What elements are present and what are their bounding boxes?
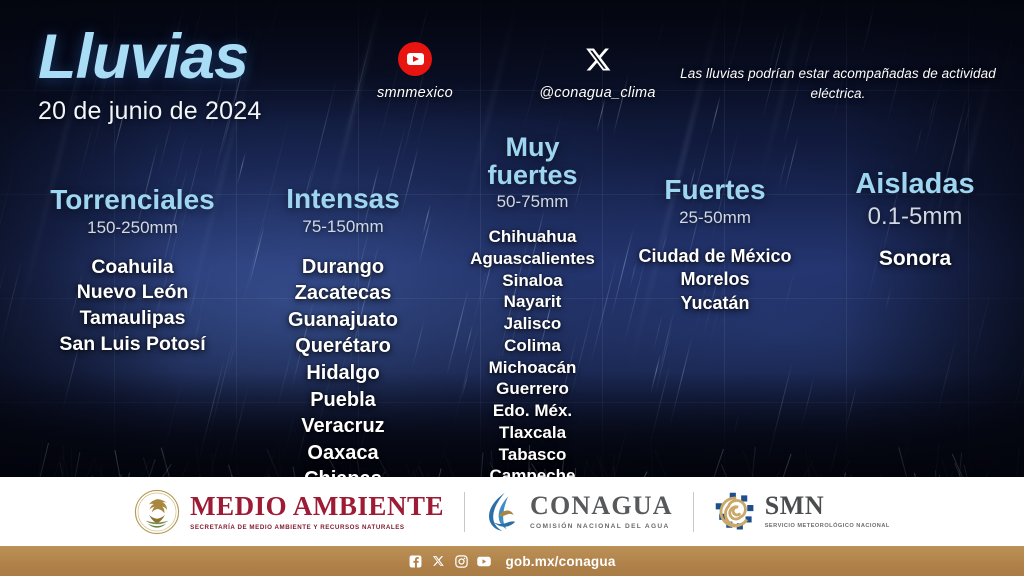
youtube-handle: smnmexico	[377, 85, 453, 101]
list-item: Edo. Méx.	[435, 400, 630, 422]
smn-text: SMN SERVICIO METEOROLÓGICO NACIONAL	[765, 493, 890, 530]
list-item: Tabasco	[435, 444, 630, 466]
logo-semarnat: MEDIO AMBIENTE SECRETARÍA DE MEDIO AMBIE…	[134, 489, 444, 535]
semarnat-subtitle: SECRETARÍA DE MEDIO AMBIENTE Y RECURSOS …	[190, 524, 444, 531]
logo-smn: SMN SERVICIO METEOROLÓGICO NACIONAL	[714, 491, 890, 533]
footer-logo-band: MEDIO AMBIENTE SECRETARÍA DE MEDIO AMBIE…	[0, 477, 1024, 546]
list-item: Colima	[435, 335, 630, 357]
list-item: Morelos	[600, 268, 830, 292]
logo-divider-2	[693, 492, 694, 532]
semarnat-text: MEDIO AMBIENTE SECRETARÍA DE MEDIO AMBIE…	[190, 493, 444, 531]
play-triangle	[413, 56, 419, 62]
lightning-note: Las lluvias podrían estar acompañadas de…	[678, 64, 998, 103]
list-item: Puebla	[243, 387, 443, 414]
list-item: Tamaulipas	[10, 306, 255, 332]
list-item: Guanajuato	[243, 307, 443, 334]
logo-conagua: CONAGUA COMISIÓN NACIONAL DEL AGUA	[485, 491, 673, 533]
category-range: 0.1-5mm	[815, 203, 1015, 231]
category-range: 75-150mm	[243, 217, 443, 237]
category-column-fuertes: Fuertes 25-50mm Ciudad de México Morelos…	[600, 176, 830, 316]
instagram-icon[interactable]	[454, 554, 468, 568]
category-name: Torrenciales	[10, 186, 255, 215]
list-item: Oaxaca	[243, 440, 443, 467]
logo-divider	[464, 492, 465, 532]
category-name: Intensas	[243, 185, 443, 214]
gob-url[interactable]: gob.mx/conagua	[505, 554, 615, 569]
state-list: Ciudad de México Morelos Yucatán	[600, 245, 830, 317]
footer-social-bar: gob.mx/conagua	[0, 546, 1024, 576]
list-item: Yucatán	[600, 292, 830, 316]
list-item: Sonora	[815, 245, 1015, 273]
mexico-coat-of-arms-icon	[134, 489, 180, 535]
category-name-line1: Muy	[435, 134, 630, 162]
list-item: Veracruz	[243, 413, 443, 440]
social-youtube[interactable]: smnmexico	[345, 42, 485, 101]
smn-subtitle: SERVICIO METEOROLÓGICO NACIONAL	[765, 522, 890, 530]
category-column-aisladas: Aisladas 0.1-5mm Sonora	[815, 170, 1015, 273]
facebook-icon[interactable]	[408, 554, 422, 568]
category-name: Aisladas	[815, 170, 1015, 200]
list-item: Zacatecas	[243, 280, 443, 307]
conagua-text: CONAGUA COMISIÓN NACIONAL DEL AGUA	[530, 493, 673, 530]
youtube-icon[interactable]	[398, 42, 432, 76]
list-item: Coahuila	[10, 255, 255, 281]
conagua-subtitle: COMISIÓN NACIONAL DEL AGUA	[530, 523, 673, 530]
category-range: 150-250mm	[10, 218, 255, 238]
conagua-title: CONAGUA	[530, 493, 673, 519]
list-item: Nuevo León	[10, 280, 255, 306]
page-date: 20 de junio de 2024	[38, 97, 261, 126]
smn-spiral-icon	[714, 491, 756, 533]
conagua-water-icon	[485, 491, 521, 533]
title-block: Lluvias 20 de junio de 2024	[38, 26, 261, 126]
smn-title: SMN	[765, 493, 890, 519]
youtube-icon[interactable]	[477, 554, 491, 568]
x-icon[interactable]	[581, 42, 615, 76]
category-column-intensas: Intensas 75-150mm Durango Zacatecas Guan…	[243, 185, 443, 493]
list-item: Querétaro	[243, 333, 443, 360]
list-item: Michoacán	[435, 357, 630, 379]
state-list: Coahuila Nuevo León Tamaulipas San Luis …	[10, 255, 255, 359]
weather-infographic: Lluvias 20 de junio de 2024 smnmexico @c…	[0, 0, 1024, 576]
list-item: Guerrero	[435, 378, 630, 400]
list-item: Tlaxcala	[435, 422, 630, 444]
x-handle: @conagua_clima	[539, 85, 655, 101]
social-x[interactable]: @conagua_clima	[520, 42, 675, 101]
youtube-screen	[407, 53, 424, 65]
list-item: Ciudad de México	[600, 245, 830, 269]
list-item: Hidalgo	[243, 360, 443, 387]
category-range: 25-50mm	[600, 208, 830, 228]
category-name: Fuertes	[600, 176, 830, 205]
x-icon[interactable]	[431, 554, 445, 568]
list-item: San Luis Potosí	[10, 332, 255, 358]
category-column-torrenciales: Torrenciales 150-250mm Coahuila Nuevo Le…	[10, 186, 255, 358]
semarnat-title: MEDIO AMBIENTE	[190, 493, 444, 520]
list-item: Durango	[243, 254, 443, 281]
state-list: Durango Zacatecas Guanajuato Querétaro H…	[243, 254, 443, 493]
state-list: Sonora	[815, 245, 1015, 273]
page-title: Lluvias	[38, 26, 261, 89]
